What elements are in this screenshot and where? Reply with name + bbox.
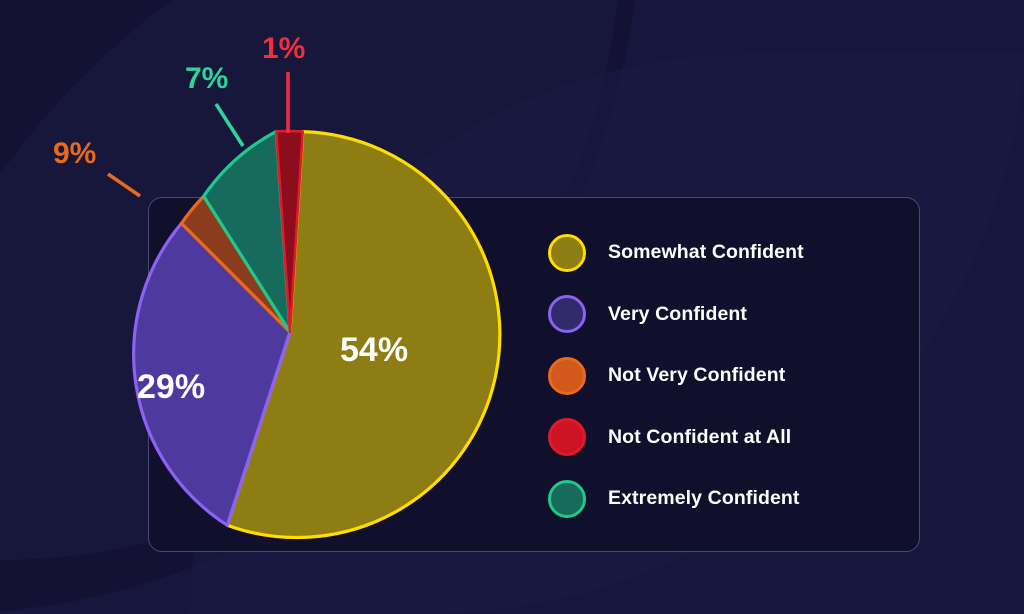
slice-label-very-confident: 29% [137,368,205,407]
legend-item-label: Very Confident [608,303,747,326]
legend-swatch-icon [548,480,586,518]
callout-seven-percent: 7% [185,62,228,96]
legend-swatch-icon [548,418,586,456]
legend-item-very-confident[interactable]: Very Confident [548,284,918,346]
legend-swatch-icon [548,234,586,272]
legend-item-label: Not Very Confident [608,364,785,387]
legend-item-not-very-confident[interactable]: Not Very Confident [548,345,918,407]
callout-one-percent: 1% [262,32,305,66]
legend-swatch-icon [548,295,586,333]
legend-item-somewhat-confident[interactable]: Somewhat Confident [548,222,918,284]
leader-line-nine-percent [108,174,140,196]
slice-label-somewhat-confident: 54% [340,331,408,370]
legend-item-label: Extremely Confident [608,487,800,510]
pie-slices [134,131,500,537]
legend: Somewhat Confident Very Confident Not Ve… [548,222,918,530]
legend-item-label: Somewhat Confident [608,241,804,264]
legend-item-label: Not Confident at All [608,426,791,449]
legend-swatch-icon [548,357,586,395]
leader-line-seven-percent [216,104,243,146]
legend-item-not-confident-at-all[interactable]: Not Confident at All [548,407,918,469]
chart-canvas: 1% 7% 9% 54% 29% Somewhat Confident Very… [0,0,1024,614]
legend-item-extremely-confident[interactable]: Extremely Confident [548,468,918,530]
callout-nine-percent: 9% [53,137,96,171]
